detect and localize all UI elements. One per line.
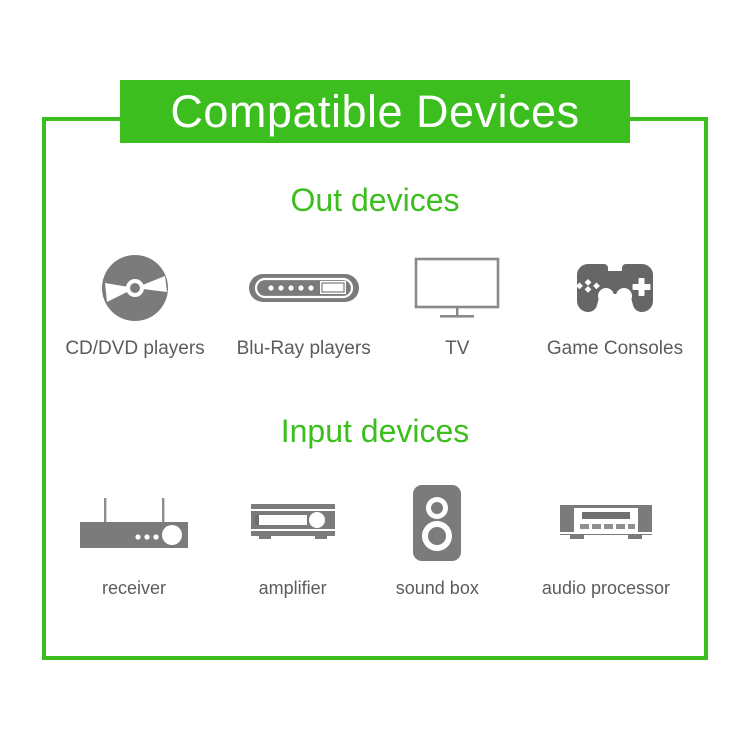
section-heading-input-devices: Input devices [0,415,750,447]
page-title: Compatible Devices [170,89,579,134]
amplifier-icon [247,483,339,563]
device-label: receiver [102,577,166,599]
device-label: Game Consoles [547,338,683,360]
device-label: CD/DVD players [65,338,204,360]
tv-monitor-icon [414,248,500,328]
out-devices-row: CD/DVD players Blu-Ray players [60,248,690,360]
device-receiver: receiver [60,483,208,599]
title-banner: Compatible Devices [120,80,630,143]
cd-dvd-disc-icon [99,248,171,328]
device-amplifier: amplifier [233,483,353,599]
device-sound-box: sound box [377,483,497,599]
device-label: amplifier [259,577,327,599]
blu-ray-player-icon [248,248,360,328]
speaker-box-icon [412,483,462,563]
device-label: sound box [396,577,479,599]
device-cd-dvd-players: CD/DVD players [60,248,210,360]
device-game-consoles: Game Consoles [540,248,690,360]
device-label: TV [445,338,469,360]
audio-processor-icon [556,483,656,563]
game-controller-icon [568,248,662,328]
input-devices-row: receiver amplifier [60,483,690,599]
device-tv: TV [397,248,517,360]
section-heading-out-devices: Out devices [0,184,750,216]
device-audio-processor: audio processor [522,483,690,599]
device-label: Blu-Ray players [237,338,371,360]
device-blu-ray-players: Blu-Ray players [233,248,375,360]
av-receiver-icon [76,483,192,563]
device-label: audio processor [542,577,670,599]
